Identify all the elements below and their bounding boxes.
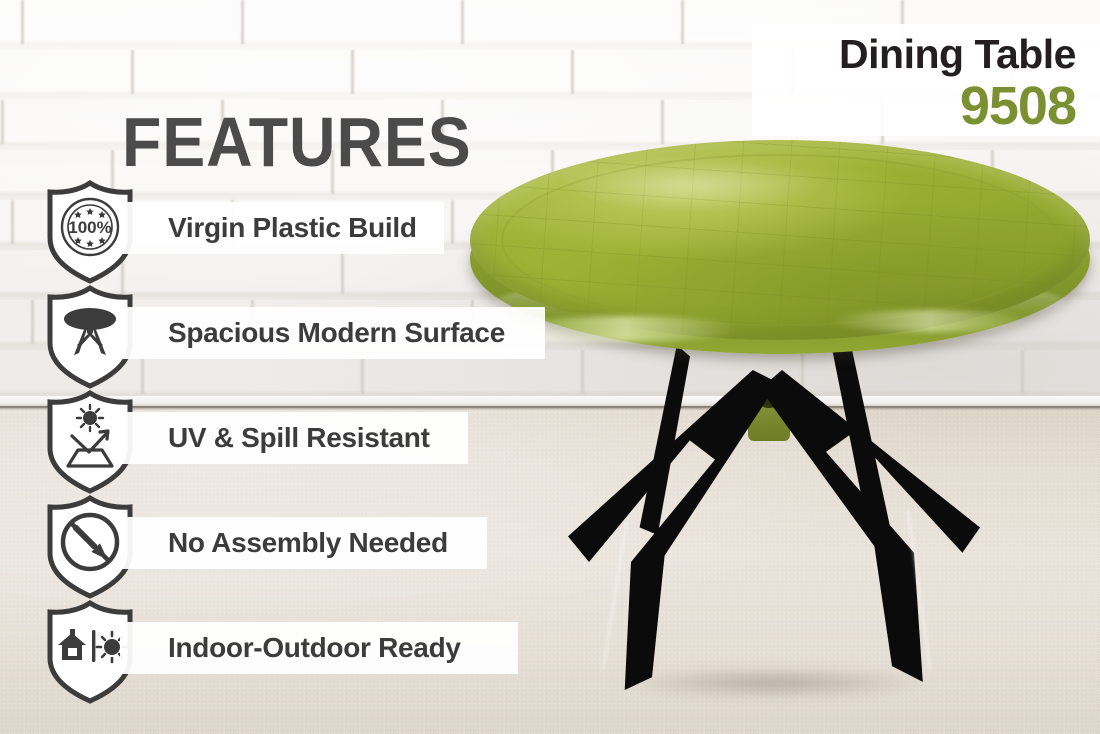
product-feature-infographic: Dining Table 9508 FEATURES 100% Virgin P… xyxy=(0,0,1100,734)
feature-label-bar: Spacious Modern Surface xyxy=(120,307,545,359)
table-edge-highlight-right xyxy=(830,310,1030,332)
feature-label-bar: UV & Spill Resistant xyxy=(120,412,468,464)
table-top xyxy=(470,140,1090,365)
features-heading: FEATURES xyxy=(122,104,472,180)
table-top-surface xyxy=(470,140,1090,340)
feature-label-bar: No Assembly Needed xyxy=(120,517,487,569)
feature-label-text: UV & Spill Resistant xyxy=(168,422,430,454)
product-title-panel: Dining Table 9508 xyxy=(752,24,1100,136)
feature-label-text: Indoor-Outdoor Ready xyxy=(168,632,461,664)
dining-table-product-image xyxy=(460,140,1100,710)
feature-label-text: Spacious Modern Surface xyxy=(168,317,505,349)
feature-label-bar: Virgin Plastic Build xyxy=(120,202,444,254)
svg-text:100%: 100% xyxy=(68,218,111,237)
feature-label-text: No Assembly Needed xyxy=(168,527,448,559)
feature-label-bar: Indoor-Outdoor Ready xyxy=(120,622,518,674)
product-model-number: 9508 xyxy=(752,80,1076,132)
table-leg-front-right xyxy=(760,370,980,685)
table-surface-gloss xyxy=(520,152,904,232)
product-title: Dining Table xyxy=(752,28,1076,80)
feature-label-text: Virgin Plastic Build xyxy=(168,212,417,244)
